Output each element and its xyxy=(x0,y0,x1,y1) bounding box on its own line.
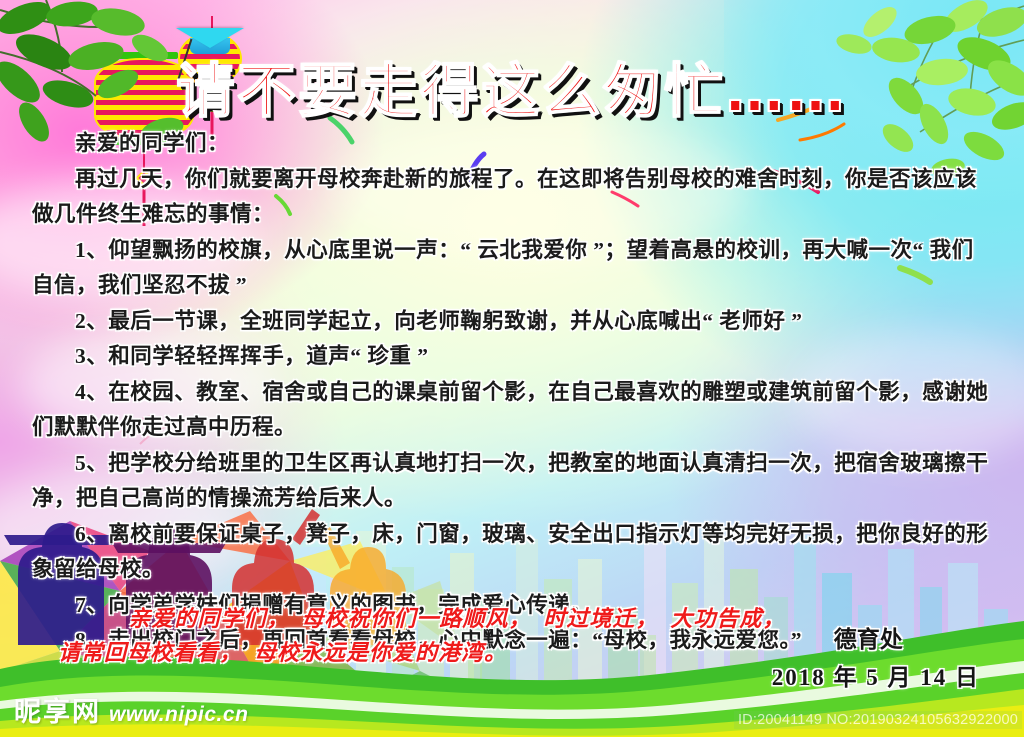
letter-body: 亲爱的同学们： 再过几天，你们就要离开母校奔赴新的旅程了。在这即将告别母校的难舍… xyxy=(32,126,992,659)
watermark: 昵享网 www.nipic.cn xyxy=(14,690,248,729)
intro-paragraph: 再过几天，你们就要离开母校奔赴新的旅程了。在这即将告别母校的难舍时刻，你是否该应… xyxy=(32,162,992,233)
list-item: 4、在校园、教室、宿舍或自己的课桌前留个影，在自己最喜欢的雕塑或建筑前留个影，感… xyxy=(32,375,992,446)
list-item: 3、和同学轻轻挥挥手，道声“ 珍重 ” xyxy=(32,339,992,375)
image-id-tag: ID:20041149 NO:20190324105632922000 xyxy=(734,711,1022,729)
watermark-brand: 昵享网 xyxy=(14,690,101,729)
title-container: 请不要走得这么匆忙…… xyxy=(0,44,1024,128)
list-item: 5、把学校分给班里的卫生区再认真地打扫一次，把教室的地面认真清扫一次，把宿舍玻璃… xyxy=(32,446,992,517)
signature-block: 德育处 2018 年 5 月 14 日 xyxy=(772,621,980,697)
poster-canvas: 请不要走得这么匆忙…… 亲爱的同学们： 再过几天，你们就要离开母校奔赴新的旅程了… xyxy=(0,0,1024,737)
signature-date: 2018 年 5 月 14 日 xyxy=(772,659,980,697)
list-item: 2、最后一节课，全班同学起立，向老师鞠躬致谢，并从心底喊出“ 老师好 ” xyxy=(32,304,992,340)
salutation: 亲爱的同学们： xyxy=(32,126,992,162)
watermark-url: www.nipic.cn xyxy=(109,703,248,727)
page-title: 请不要走得这么匆忙…… xyxy=(176,44,847,128)
list-item: 6、离校前要保证桌子，凳子，床，门窗，玻璃、安全出口指示灯等均完好无损，把你良好… xyxy=(32,517,992,588)
list-item: 1、仰望飘扬的校旗，从心底里说一声：“ 云北我爱你 ”；望着高悬的校训，再大喊一… xyxy=(32,233,992,304)
signature-department: 德育处 xyxy=(772,621,980,659)
